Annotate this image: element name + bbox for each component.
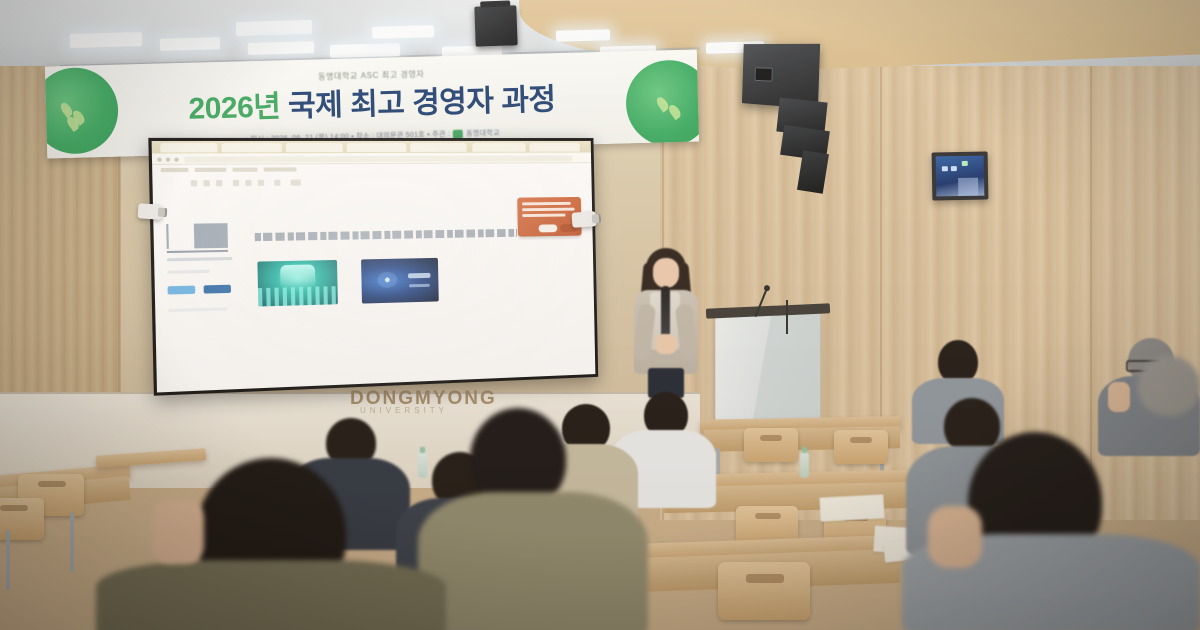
wall-monitor: [932, 152, 989, 201]
monitor-screen: [936, 156, 985, 197]
popup-line: [522, 202, 571, 205]
lecture-hall-photo: DONGMYONG UNIVERSITY 동명대학교 ASC 최고 경영자 20…: [0, 0, 1200, 630]
browser-tab[interactable]: [347, 143, 407, 152]
popup-line: [522, 214, 565, 217]
page-toolbar: [191, 179, 415, 188]
browser-tab[interactable]: [410, 143, 467, 152]
back-icon[interactable]: [157, 158, 161, 162]
ceiling-speaker: [474, 5, 517, 46]
presenter: [622, 248, 708, 394]
slide-headline: [255, 229, 528, 241]
ceiling-light: [236, 20, 312, 36]
page-sidebar: [166, 223, 246, 312]
audience-body: [418, 492, 648, 630]
water-bottle: [418, 452, 427, 478]
ceiling-light: [248, 41, 314, 55]
lectern: [715, 311, 820, 431]
sidebar-text-line: [167, 257, 232, 261]
water-bottle: [800, 452, 809, 478]
forward-icon[interactable]: [166, 158, 170, 162]
browser-tab[interactable]: [222, 143, 282, 152]
ceiling-light: [160, 37, 220, 51]
bookmark-item[interactable]: [195, 167, 227, 171]
popup-line: [522, 208, 574, 212]
url-field[interactable]: [184, 155, 573, 162]
network-cloud-image: [361, 258, 439, 304]
wall-seam: [880, 0, 882, 470]
browser-tab-strip: [152, 141, 591, 154]
blockchain-server-image: [257, 260, 338, 307]
browser-tab[interactable]: [160, 143, 217, 152]
ceiling-light: [70, 32, 142, 48]
presenter-face: [653, 258, 679, 288]
banner-year: 2026년: [188, 90, 281, 125]
sidebar-text-line: [168, 307, 227, 312]
audience-head: [1138, 356, 1200, 416]
venue-sign-subtitle: UNIVERSITY: [360, 406, 448, 415]
handout-paper: [819, 494, 884, 521]
browser-tab[interactable]: [529, 143, 580, 152]
page-content: [152, 172, 595, 393]
bookmark-item[interactable]: [161, 167, 189, 171]
audience-hand: [152, 500, 204, 564]
projected-slide: [152, 141, 596, 393]
bookmark-item[interactable]: [264, 167, 297, 171]
ceiling-light: [556, 29, 610, 41]
browser-tab[interactable]: [472, 143, 525, 152]
security-camera-left: [138, 203, 163, 220]
bookmark-item[interactable]: [233, 167, 258, 171]
projection-screen: [148, 138, 598, 396]
security-camera-right: [572, 211, 597, 228]
sidebar-button-secondary[interactable]: [204, 285, 231, 294]
site-logo: [166, 223, 228, 249]
handheld-microphone: [661, 286, 670, 338]
audience-hand: [928, 506, 982, 568]
wall-seam: [1090, 0, 1092, 470]
banner-main-title: 국제 최고 경영자 과정: [288, 83, 556, 123]
sidebar-button-primary[interactable]: [168, 286, 196, 295]
popup-secondary-button[interactable]: [538, 224, 557, 232]
audience-body: [96, 560, 446, 630]
browser-tab[interactable]: [286, 143, 343, 152]
reload-icon[interactable]: [174, 158, 178, 162]
audience-hand: [1108, 382, 1130, 412]
ceiling-light: [330, 43, 400, 58]
presenter-hands: [655, 334, 677, 354]
ceiling-light: [372, 25, 434, 39]
lectern-rod: [786, 300, 788, 334]
